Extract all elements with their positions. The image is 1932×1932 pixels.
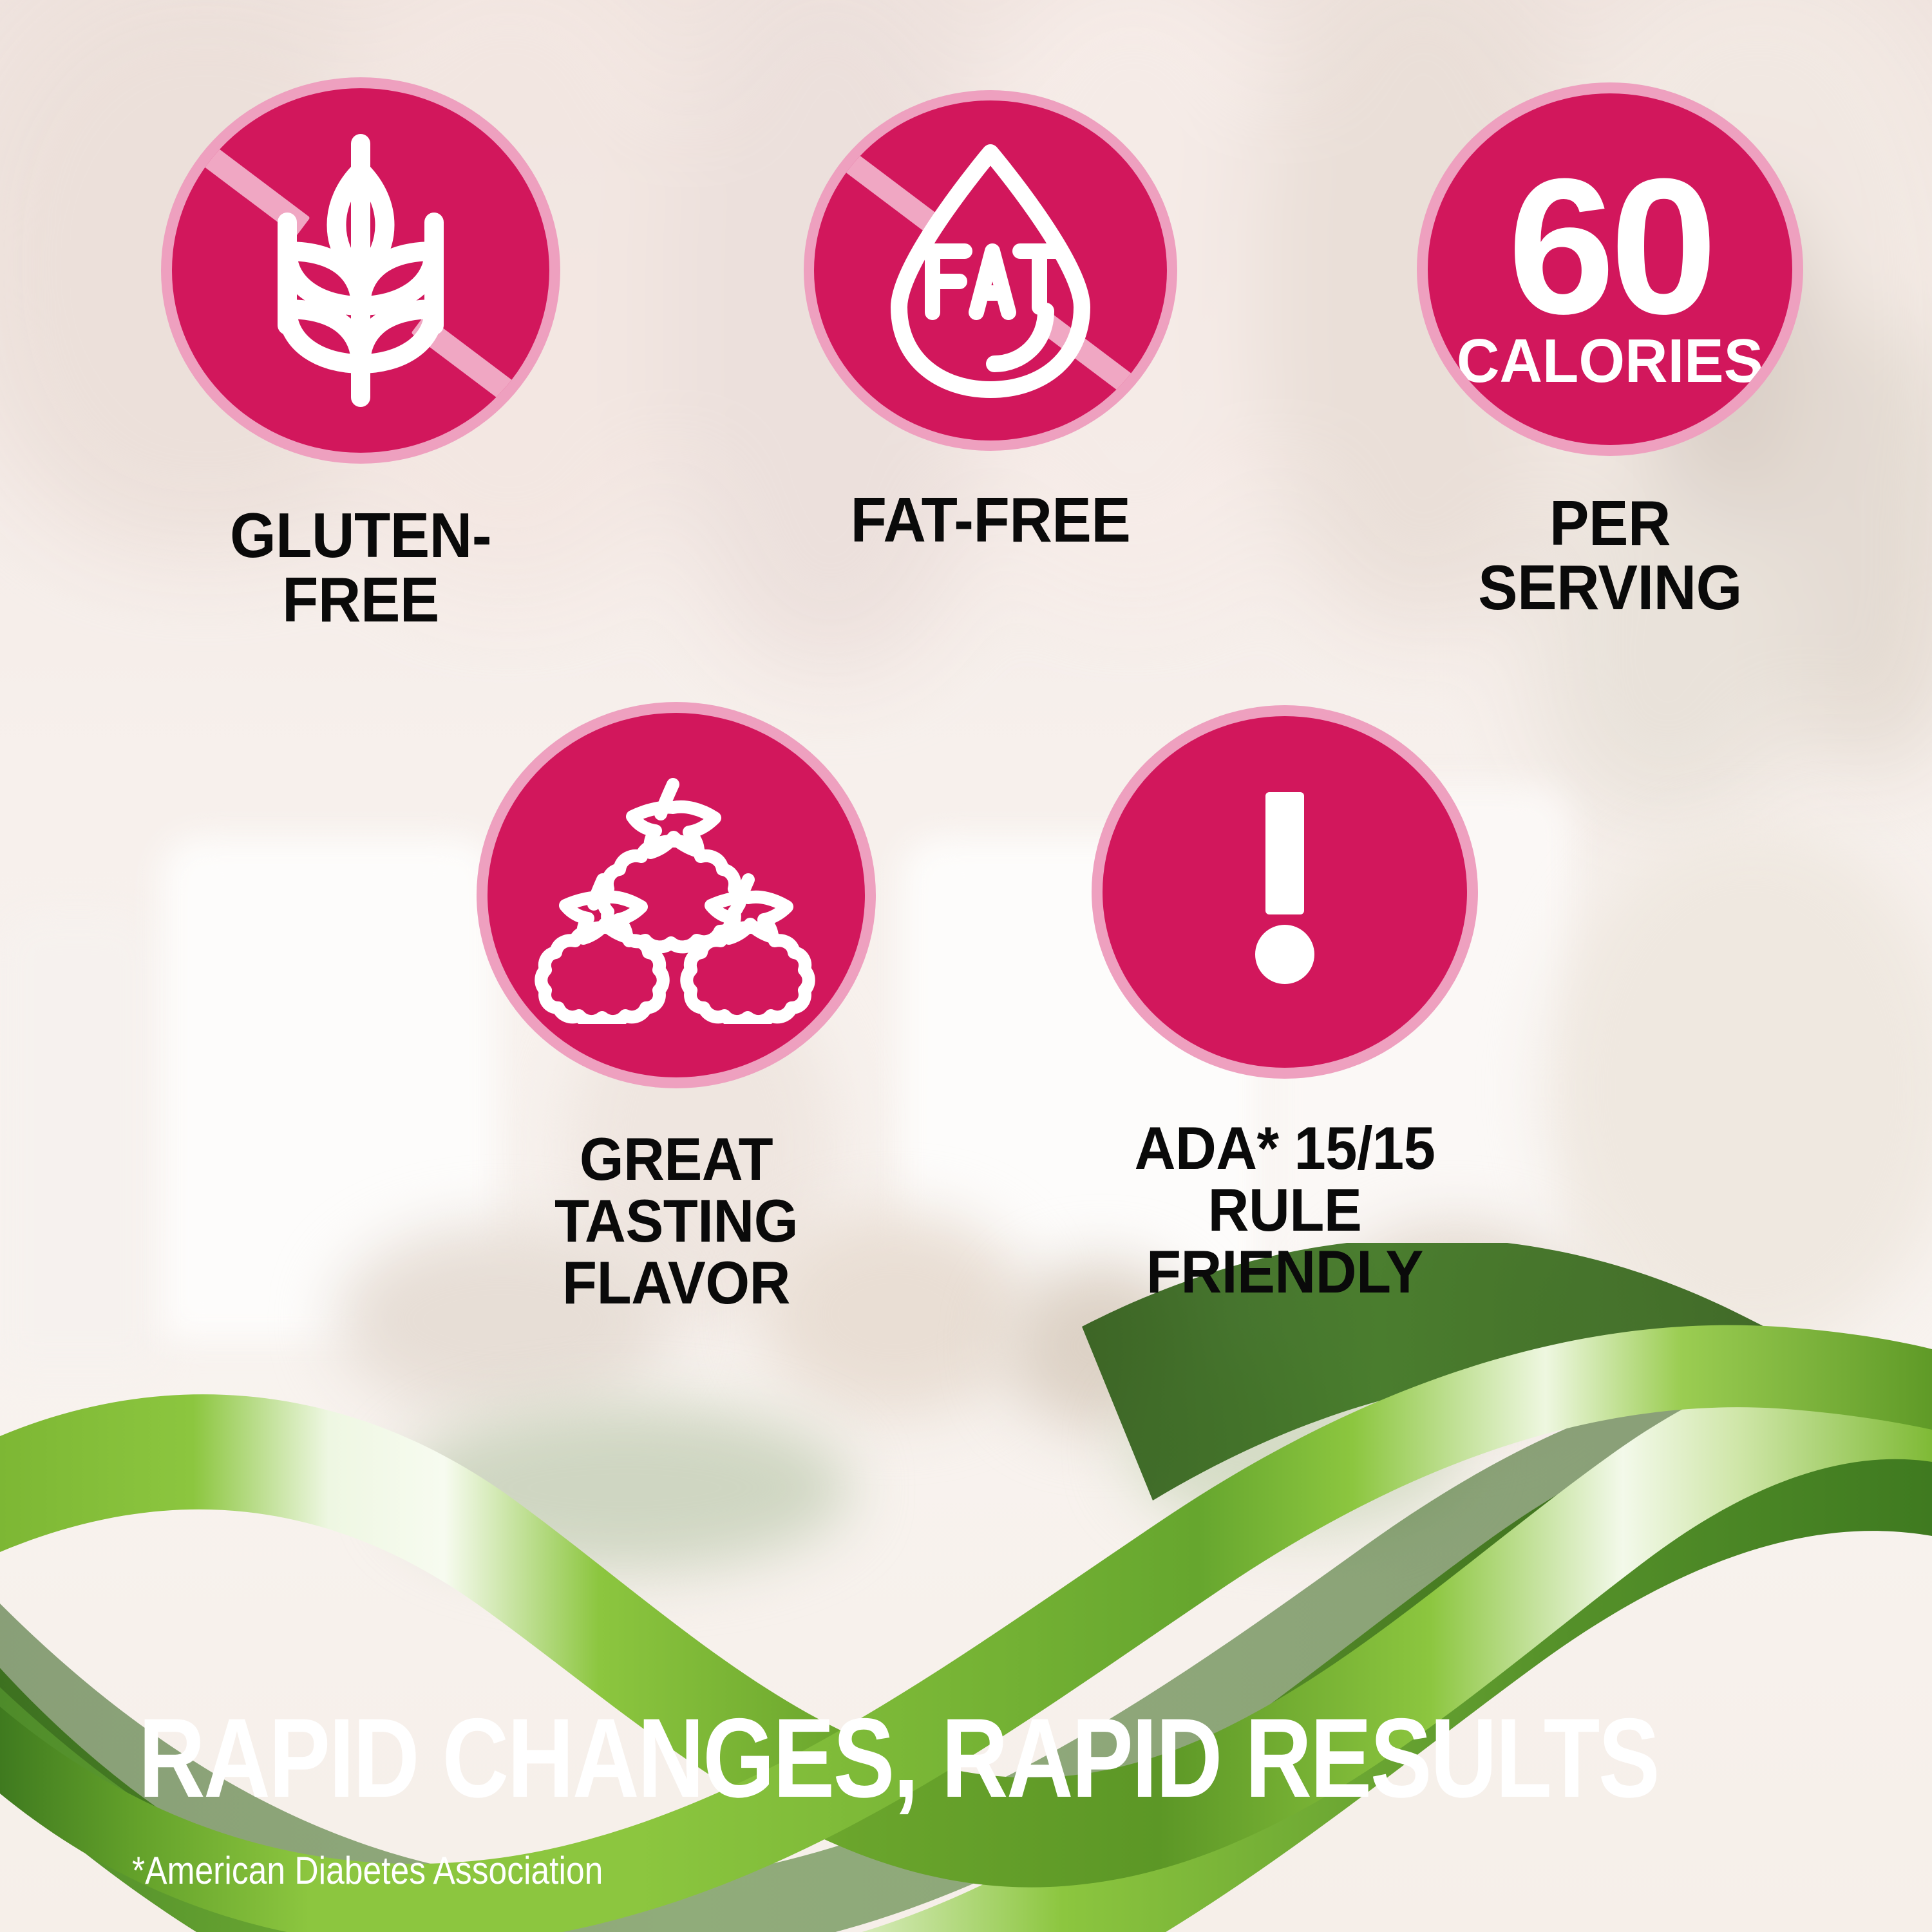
feature-badge-ada: ADA* 15/15 RULE FRIENDLY [1092,705,1478,1303]
gluten-free-circle [161,77,560,464]
calories-circle: 60 CALORIES [1417,82,1803,456]
calories-caption-line2: SERVING [1428,556,1792,620]
wheat-icon [245,132,477,409]
ada-caption-line1: ADA* 15/15 [1103,1117,1466,1179]
footer-headline: RAPID CHANGES, RAPID RESULTS [138,1694,1658,1823]
flavor-caption-line1: GREAT TASTING [489,1128,864,1252]
calorie-value: 60 [1508,163,1712,329]
fat-free-caption: FAT-FREE [815,488,1166,553]
ada-caption-line2: RULE FRIENDLY [1103,1179,1466,1303]
ada-circle [1092,705,1478,1079]
feature-badge-calories: 60 CALORIES PER SERVING [1417,82,1803,620]
footer-footnote: *American Diabetes Association [132,1848,603,1893]
raspberries-icon [535,766,818,1024]
feature-badge-fat-free: FAT-FREE [804,90,1177,553]
gluten-free-caption: GLUTEN-FREE [173,504,549,632]
exclamation-mark-icon [1236,786,1333,998]
feature-badge-gluten-free: GLUTEN-FREE [161,77,560,632]
flavor-circle [477,702,876,1088]
fat-droplet-icon [875,138,1106,402]
flavor-caption-line2: FLAVOR [489,1252,864,1314]
feature-badge-flavor: GREAT TASTING FLAVOR [477,702,876,1314]
promo-poster: GLUTEN-FREE [0,0,1932,1932]
calories-caption-line1: PER [1428,491,1792,556]
calorie-unit-label: CALORIES [1457,330,1763,392]
fat-free-circle [804,90,1177,451]
green-ribbon-wave [0,1243,1932,1932]
